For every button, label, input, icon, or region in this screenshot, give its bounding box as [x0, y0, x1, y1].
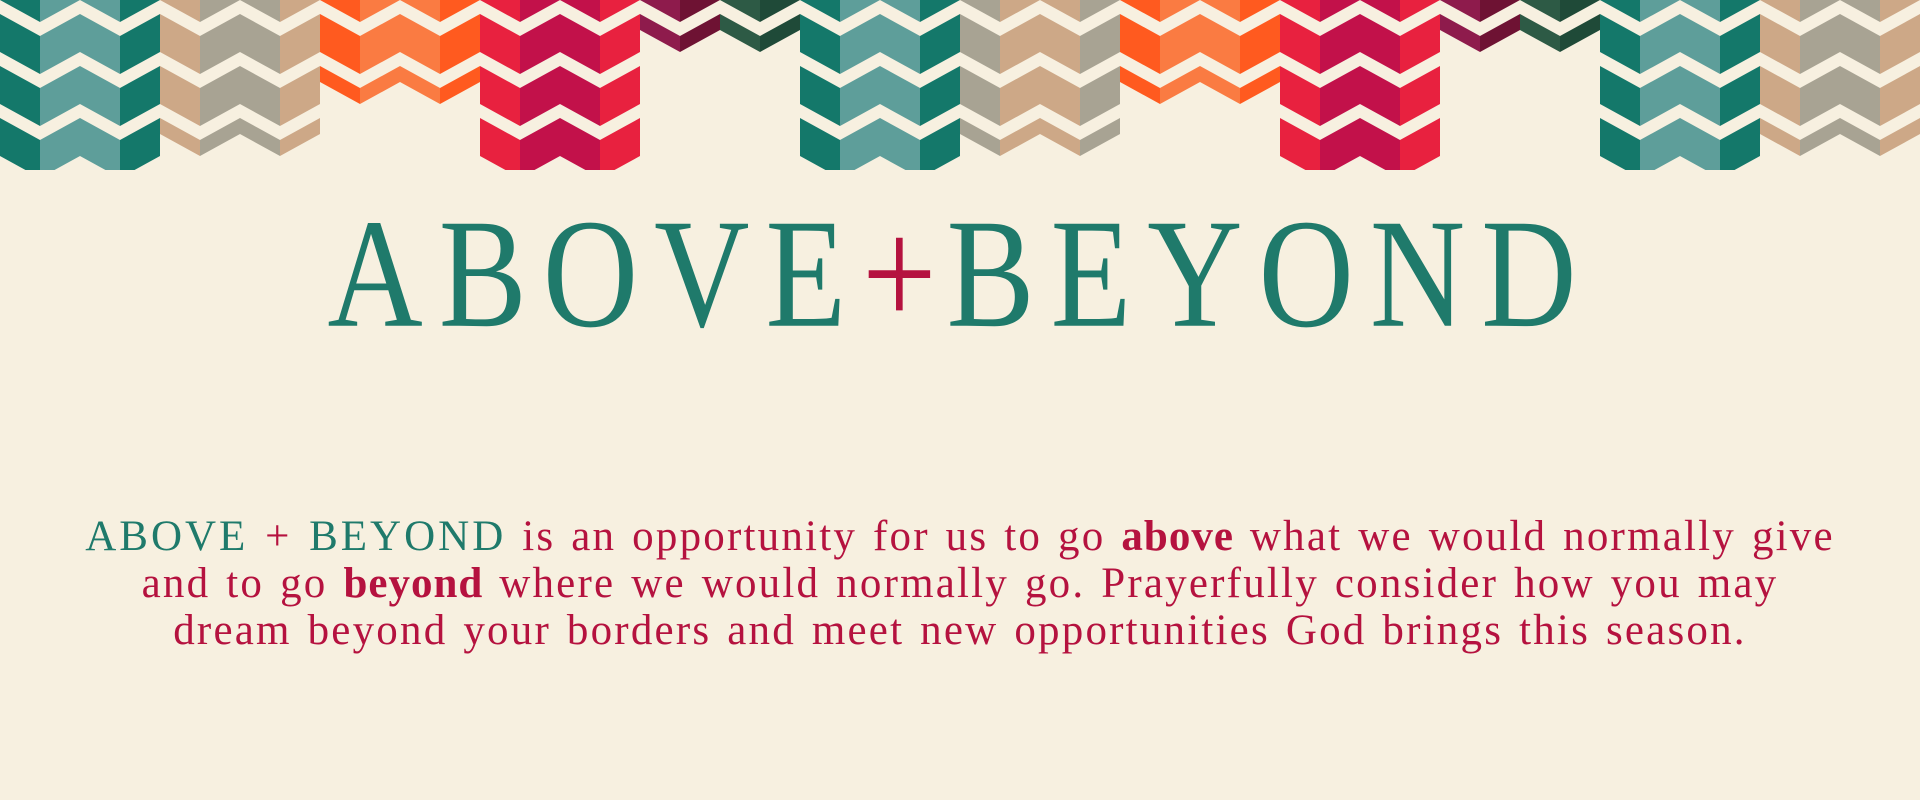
chevron-column: [880, 0, 960, 170]
chevron-column: [480, 0, 560, 170]
chevron-half-right: [840, 104, 880, 156]
chevron-tile: [1600, 52, 1680, 104]
chevron-tile: [1600, 156, 1680, 170]
chevron-half-left: [1280, 52, 1320, 104]
chevron-column: [560, 0, 640, 170]
chevron-half-left: [240, 52, 280, 104]
chevron-tile: [1760, 0, 1840, 52]
chevron-tile: [0, 52, 80, 104]
chevron-half-right: [40, 0, 80, 52]
chevron-half-right: [840, 0, 880, 52]
chevron-tile: [320, 0, 400, 52]
chevron-half-left: [1680, 52, 1720, 104]
chevron-half-right: [920, 52, 960, 104]
chevron-half-right: [600, 156, 640, 170]
chevron-column: [960, 0, 1040, 170]
chevron-half-right: [1800, 104, 1840, 156]
chevron-half-left: [1600, 52, 1640, 104]
chevron-half-right: [40, 156, 80, 170]
chevron-tile: [0, 156, 80, 170]
chevron-half-left: [1040, 52, 1080, 104]
chevron-half-left: [1200, 52, 1240, 104]
chevron-half-left: [560, 52, 600, 104]
chevron-column: [1040, 0, 1120, 170]
chevron-half-right: [440, 0, 480, 52]
chevron-tile: [1600, 0, 1680, 52]
chevron-half-left: [480, 156, 520, 170]
chevron-column: [1200, 0, 1280, 170]
chevron-half-right: [1160, 0, 1200, 52]
chevron-half-left: [1040, 0, 1080, 52]
chevron-half-right: [1400, 156, 1440, 170]
chevron-half-right: [120, 0, 160, 52]
chevron-half-right: [600, 104, 640, 156]
body-text-1: is an opportunity for us to go: [506, 513, 1121, 560]
body-paragraph-container: ABOVE + BEYOND is an opportunity for us …: [80, 470, 1840, 697]
chevron-half-left: [80, 0, 120, 52]
chevron-half-left: [800, 156, 840, 170]
chevron-tile: [80, 52, 160, 104]
chevron-half-left: [1360, 0, 1400, 52]
chevron-tile: [560, 156, 640, 170]
chevron-half-left: [720, 0, 760, 52]
chevron-half-left: [1280, 156, 1320, 170]
chevron-half-left: [1360, 52, 1400, 104]
chevron-half-left: [400, 52, 440, 104]
chevron-tile: [800, 104, 880, 156]
chevron-half-right: [1720, 104, 1760, 156]
chevron-half-right: [520, 0, 560, 52]
chevron-tile: [240, 0, 320, 52]
page-title: ABOVE+BEYOND: [0, 196, 1920, 328]
chevron-half-left: [1680, 0, 1720, 52]
above-beyond-banner: ABOVE+BEYOND ABOVE + BEYOND is an opport…: [0, 0, 1920, 800]
title-above: ABOVE: [327, 187, 862, 360]
chevron-tile: [800, 52, 880, 104]
chevron-tile: [1680, 156, 1760, 170]
chevron-column: [160, 0, 240, 170]
chevron-half-left: [320, 0, 360, 52]
chevron-tile: [1840, 52, 1920, 104]
title-text: ABOVE+BEYOND: [327, 196, 1592, 352]
chevron-tile: [480, 0, 560, 52]
chevron-column: [640, 0, 720, 170]
chevron-half-right: [40, 52, 80, 104]
chevron-half-right: [1240, 0, 1280, 52]
chevron-half-left: [0, 52, 40, 104]
chevron-tile: [960, 104, 1040, 156]
chevron-half-left: [1520, 0, 1560, 52]
chevron-half-right: [1720, 52, 1760, 104]
chevron-half-right: [280, 0, 320, 52]
chevron-tile: [480, 104, 560, 156]
chevron-tile: [1840, 0, 1920, 52]
chevron-half-right: [1400, 0, 1440, 52]
chevron-half-left: [1760, 104, 1800, 156]
chevron-half-left: [400, 0, 440, 52]
chevron-half-left: [160, 52, 200, 104]
chevron-tile: [960, 52, 1040, 104]
chevron-tile: [1040, 0, 1120, 52]
chevron-half-left: [1200, 0, 1240, 52]
chevron-half-left: [560, 104, 600, 156]
chevron-column: [1680, 0, 1760, 170]
chevron-half-left: [160, 0, 200, 52]
chevron-half-left: [960, 0, 1000, 52]
chevron-half-left: [1600, 104, 1640, 156]
chevron-half-right: [440, 52, 480, 104]
chevron-column: [80, 0, 160, 170]
chevron-tile: [1280, 156, 1360, 170]
chevron-half-left: [1600, 0, 1640, 52]
chevron-tile: [1120, 0, 1200, 52]
body-lead-spacer: [248, 513, 265, 560]
chevron-tile: [1280, 0, 1360, 52]
chevron-tile: [400, 52, 480, 104]
chevron-tile: [1600, 104, 1680, 156]
chevron-tile: [160, 52, 240, 104]
chevron-half-left: [1440, 0, 1480, 52]
chevron-half-left: [480, 52, 520, 104]
chevron-half-left: [160, 104, 200, 156]
chevron-column: [800, 0, 880, 170]
chevron-tile: [1440, 0, 1520, 52]
chevron-tile: [560, 52, 640, 104]
chevron-tile: [480, 156, 560, 170]
chevron-half-left: [1680, 104, 1720, 156]
chevron-half-left: [0, 0, 40, 52]
chevron-column: [1440, 0, 1520, 170]
chevron-column: [1360, 0, 1440, 170]
chevron-half-left: [80, 52, 120, 104]
chevron-half-right: [1640, 0, 1680, 52]
chevron-half-left: [1120, 52, 1160, 104]
chevron-tile: [1040, 52, 1120, 104]
body-emphasis-above: above: [1121, 513, 1234, 560]
chevron-half-right: [920, 0, 960, 52]
chevron-half-left: [560, 156, 600, 170]
chevron-half-right: [1000, 104, 1040, 156]
chevron-half-right: [280, 104, 320, 156]
chevron-half-right: [1000, 52, 1040, 104]
chevron-half-right: [1720, 156, 1760, 170]
chevron-half-left: [240, 0, 280, 52]
title-beyond: BEYOND: [947, 187, 1593, 360]
chevron-tile: [400, 0, 480, 52]
chevron-tile: [160, 0, 240, 52]
chevron-half-right: [200, 52, 240, 104]
chevron-half-right: [40, 104, 80, 156]
chevron-half-left: [80, 156, 120, 170]
chevron-half-right: [840, 156, 880, 170]
chevron-column: [1520, 0, 1600, 170]
chevron-half-left: [560, 0, 600, 52]
chevron-half-right: [1160, 52, 1200, 104]
chevron-half-right: [600, 0, 640, 52]
chevron-tile: [80, 104, 160, 156]
chevron-tile: [960, 0, 1040, 52]
chevron-half-right: [1640, 52, 1680, 104]
chevron-half-right: [840, 52, 880, 104]
chevron-half-left: [0, 104, 40, 156]
chevron-column: [0, 0, 80, 170]
chevron-tile: [0, 0, 80, 52]
chevron-half-right: [1640, 104, 1680, 156]
chevron-half-right: [360, 52, 400, 104]
chevron-half-left: [880, 0, 920, 52]
chevron-half-left: [1600, 156, 1640, 170]
chevron-half-right: [760, 0, 800, 52]
chevron-tile: [1120, 52, 1200, 104]
chevron-column: [1840, 0, 1920, 170]
chevron-tile: [560, 104, 640, 156]
chevron-half-left: [1360, 156, 1400, 170]
chevron-tile: [80, 156, 160, 170]
chevron-tile: [1760, 52, 1840, 104]
chevron-tile: [1040, 104, 1120, 156]
chevron-half-right: [1320, 52, 1360, 104]
chevron-half-left: [1280, 104, 1320, 156]
chevron-tile: [1280, 104, 1360, 156]
chevron-tile: [800, 0, 880, 52]
chevron-half-right: [120, 104, 160, 156]
chevron-tile: [1360, 0, 1440, 52]
body-paragraph: ABOVE + BEYOND is an opportunity for us …: [80, 513, 1840, 654]
body-lead-beyond: BEYOND: [309, 513, 506, 560]
chevron-half-left: [880, 156, 920, 170]
chevron-half-left: [1680, 156, 1720, 170]
chevron-half-left: [80, 104, 120, 156]
chevron-half-right: [1400, 52, 1440, 104]
chevron-half-left: [1840, 52, 1880, 104]
chevron-tile: [240, 104, 320, 156]
chevron-half-right: [520, 52, 560, 104]
chevron-half-left: [880, 52, 920, 104]
chevron-tile: [1280, 52, 1360, 104]
chevron-half-left: [1120, 0, 1160, 52]
chevron-half-right: [1320, 0, 1360, 52]
body-lead: ABOVE + BEYOND: [85, 513, 506, 560]
chevron-half-right: [200, 104, 240, 156]
chevron-half-right: [1880, 0, 1920, 52]
chevron-tile: [880, 52, 960, 104]
chevron-column: [320, 0, 400, 170]
chevron-tile: [480, 52, 560, 104]
chevron-tile: [0, 104, 80, 156]
chevron-half-right: [1320, 104, 1360, 156]
chevron-half-right: [1800, 0, 1840, 52]
chevron-column: [1120, 0, 1200, 170]
chevron-half-right: [1720, 0, 1760, 52]
chevron-column: [1600, 0, 1680, 170]
chevron-tile: [1840, 104, 1920, 156]
chevron-tile: [320, 52, 400, 104]
chevron-half-right: [360, 0, 400, 52]
chevron-half-right: [1080, 52, 1120, 104]
chevron-half-right: [1640, 156, 1680, 170]
chevron-half-right: [1880, 52, 1920, 104]
chevron-tile: [1360, 156, 1440, 170]
chevron-tile: [720, 0, 800, 52]
chevron-half-left: [1280, 0, 1320, 52]
chevron-half-right: [920, 104, 960, 156]
chevron-half-left: [1760, 0, 1800, 52]
chevron-half-left: [960, 104, 1000, 156]
chevron-tile: [1200, 52, 1280, 104]
chevron-half-right: [680, 0, 720, 52]
chevron-half-left: [1040, 104, 1080, 156]
chevron-half-left: [0, 156, 40, 170]
chevron-half-right: [1320, 156, 1360, 170]
chevron-half-left: [880, 104, 920, 156]
chevron-tile: [880, 0, 960, 52]
chevron-tile: [880, 156, 960, 170]
chevron-half-left: [240, 104, 280, 156]
chevron-tile: [160, 104, 240, 156]
chevron-half-left: [480, 104, 520, 156]
chevron-half-right: [1080, 104, 1120, 156]
chevron-half-right: [120, 52, 160, 104]
chevron-column: [720, 0, 800, 170]
body-lead-spacer-2: [292, 513, 309, 560]
chevron-half-left: [1840, 0, 1880, 52]
chevron-half-right: [1240, 52, 1280, 104]
chevron-column: [1760, 0, 1840, 170]
chevron-half-right: [1880, 104, 1920, 156]
chevron-half-left: [800, 0, 840, 52]
chevron-half-right: [1480, 0, 1520, 52]
chevron-tile: [1680, 104, 1760, 156]
chevron-half-right: [200, 0, 240, 52]
chevron-pattern-band: [0, 0, 1920, 170]
body-lead-above: ABOVE: [85, 513, 248, 560]
chevron-tile: [1360, 52, 1440, 104]
chevron-half-left: [640, 0, 680, 52]
chevron-half-left: [960, 52, 1000, 104]
chevron-tile: [1760, 104, 1840, 156]
chevron-half-left: [480, 0, 520, 52]
chevron-half-right: [520, 104, 560, 156]
chevron-half-right: [1080, 0, 1120, 52]
chevron-half-left: [320, 52, 360, 104]
chevron-half-right: [920, 156, 960, 170]
chevron-tile: [1680, 0, 1760, 52]
chevron-half-left: [800, 52, 840, 104]
chevron-tile: [1200, 0, 1280, 52]
chevron-tile: [880, 104, 960, 156]
chevron-half-left: [1360, 104, 1400, 156]
chevron-tile: [560, 0, 640, 52]
body-emphasis-beyond: beyond: [343, 560, 483, 607]
chevron-tile: [1680, 52, 1760, 104]
chevron-half-left: [800, 104, 840, 156]
chevron-tile: [800, 156, 880, 170]
chevron-tile: [80, 0, 160, 52]
chevron-tile: [240, 52, 320, 104]
chevron-tile: [1360, 104, 1440, 156]
chevron-half-right: [1400, 104, 1440, 156]
chevron-half-right: [1560, 0, 1600, 52]
chevron-tile: [640, 0, 720, 52]
chevron-column: [1280, 0, 1360, 170]
chevron-column: [240, 0, 320, 170]
chevron-tile: [1520, 0, 1600, 52]
body-lead-plus-icon: +: [265, 513, 292, 560]
chevron-half-right: [120, 156, 160, 170]
chevron-half-right: [520, 156, 560, 170]
title-plus-icon: +: [862, 187, 946, 360]
chevron-column: [400, 0, 480, 170]
chevron-half-left: [1840, 104, 1880, 156]
chevron-half-right: [280, 52, 320, 104]
chevron-half-right: [1000, 0, 1040, 52]
chevron-half-right: [600, 52, 640, 104]
chevron-half-right: [1800, 52, 1840, 104]
chevron-half-left: [1760, 52, 1800, 104]
